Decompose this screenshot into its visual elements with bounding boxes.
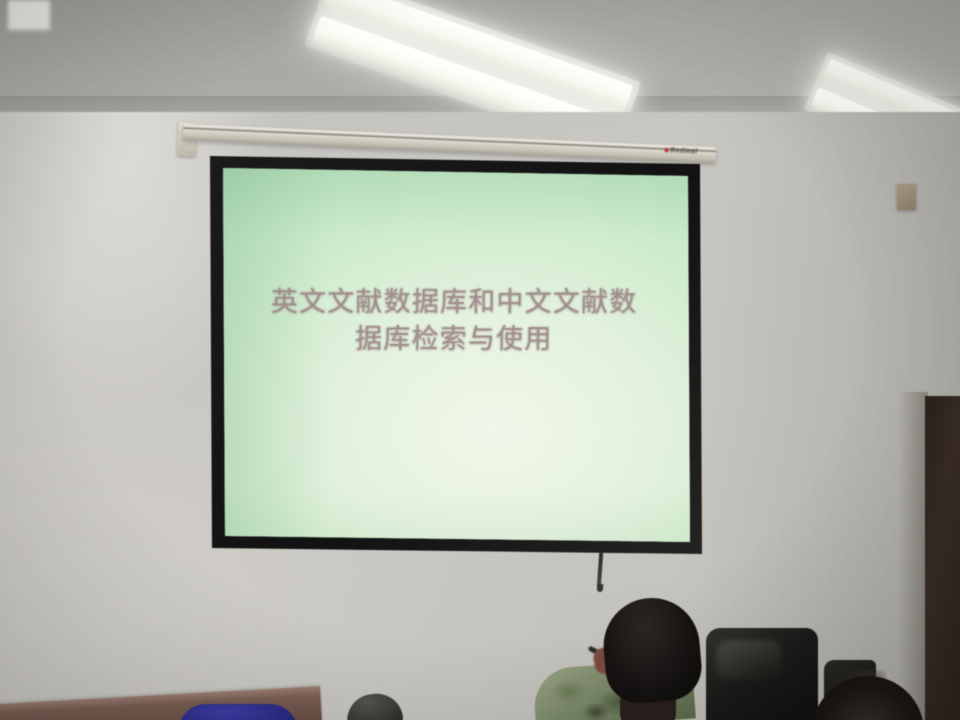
- screen-pull-handle-tip[interactable]: [597, 584, 604, 592]
- panel-shadow: [898, 392, 928, 720]
- chair-highlight: [716, 640, 782, 680]
- blue-bag: [178, 704, 298, 720]
- classroom-photo-scene: Redleaf 英文文献数据库和中文文献数 据库检索与使用: [0, 0, 960, 720]
- brand-mark-icon: [664, 148, 668, 152]
- ceiling-light-reflection: [8, 0, 50, 30]
- screen-brand-logo: Redleaf: [664, 147, 698, 155]
- wall-outlet-box[interactable]: [897, 184, 916, 210]
- projector-screen-surface: [196, 146, 712, 564]
- dark-wall-panel: [925, 396, 960, 720]
- brand-name: Redleaf: [670, 147, 698, 155]
